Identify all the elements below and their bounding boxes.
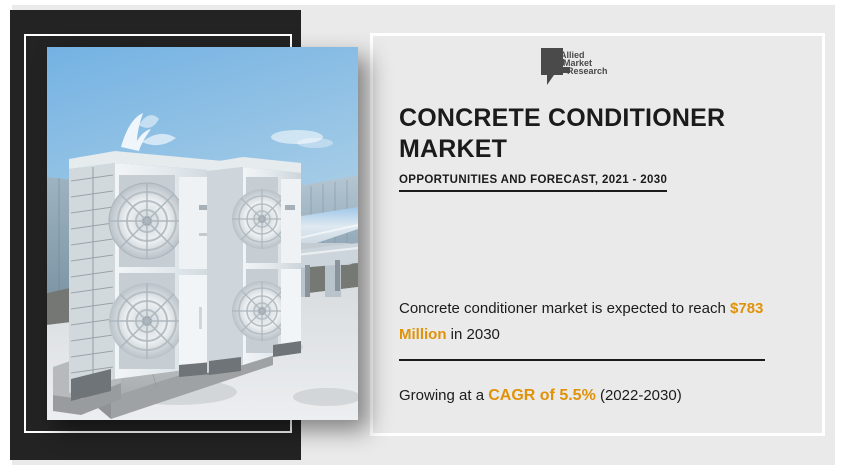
photo-artwork	[47, 47, 358, 420]
logo-artwork: Allied Market Research	[537, 45, 607, 92]
cagr-statement: Growing at a CAGR of 5.5% (2022-2030)	[399, 383, 779, 409]
rooftop-hvac-condenser-units-photo	[47, 47, 358, 420]
fact2-suffix: (2022-2030)	[596, 387, 682, 404]
fact1-suffix: in 2030	[447, 326, 500, 343]
fact2-prefix: Growing at a	[399, 387, 488, 404]
fact1-prefix: Concrete conditioner market is expected …	[399, 300, 730, 317]
allied-market-research-logo: Allied Market Research	[537, 45, 607, 92]
white-inner-frame	[370, 33, 825, 436]
subtitle-wrapper: OPPORTUNITIES AND FORECAST, 2021 - 2030	[399, 170, 799, 192]
market-value-statement: Concrete conditioner market is expected …	[399, 296, 771, 349]
cagr-highlight: CAGR of 5.5%	[488, 387, 596, 404]
logo-line-3: Research	[567, 66, 607, 76]
infographic-canvas: Allied Market Research CONCRETE CONDITIO…	[0, 0, 847, 470]
section-divider	[399, 359, 765, 361]
page-title: CONCRETE CONDITIONER MARKET	[399, 103, 799, 164]
page-subtitle: OPPORTUNITIES AND FORECAST, 2021 - 2030	[399, 174, 667, 192]
